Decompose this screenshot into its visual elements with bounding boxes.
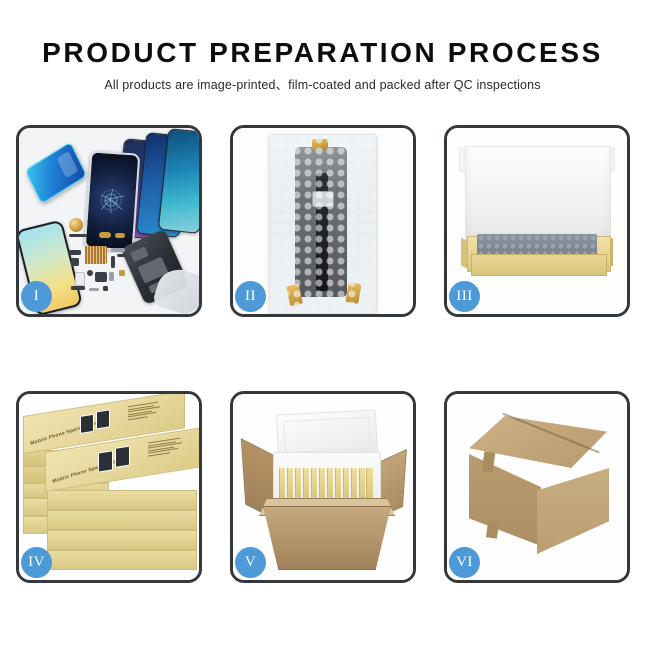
- step-badge-1: I: [21, 281, 52, 312]
- step-badge-5: V: [235, 547, 266, 578]
- box-spec-text-icon: [128, 401, 164, 422]
- box-white-lid-icon: [465, 146, 611, 244]
- bubble-overlay-icon: [270, 135, 376, 313]
- kraft-box-front-icon: [471, 254, 607, 276]
- step-panel-5: V: [230, 391, 416, 583]
- gold-component-icon: [69, 218, 83, 232]
- stacked-box-icon: [47, 530, 197, 550]
- step-panel-2: II: [230, 125, 416, 317]
- step-badge-3: III: [449, 281, 480, 312]
- box-artwork-screen-icon: [115, 446, 130, 468]
- step-badge-2: II: [235, 281, 266, 312]
- step-panel-4: Mobile Phone Spare Parts Mobile Phone Sp…: [16, 391, 202, 583]
- step-badge-6: VI: [449, 547, 480, 578]
- box-artwork-screen-icon: [98, 450, 113, 472]
- step-panel-6: VI: [444, 391, 630, 583]
- stacked-box-icon: [47, 490, 197, 510]
- spare-parts-cluster: [69, 232, 155, 308]
- step-1-image: I: [19, 128, 199, 314]
- bubble-wrap-bag-icon: [269, 134, 377, 314]
- step-2-image: II: [233, 128, 413, 314]
- page-title: PRODUCT PREPARATION PROCESS: [0, 0, 645, 68]
- product-preparation-process-page: PRODUCT PREPARATION PROCESS All products…: [0, 0, 645, 645]
- page-header: PRODUCT PREPARATION PROCESS All products…: [0, 0, 645, 92]
- box-artwork-screen-icon: [80, 414, 94, 434]
- step-4-image: Mobile Phone Spare Parts Mobile Phone Sp…: [19, 394, 199, 580]
- stacked-box-icon: [47, 510, 197, 530]
- step-badge-4: IV: [21, 547, 52, 578]
- process-steps-grid: I II: [16, 125, 630, 583]
- box-spec-text-icon: [148, 437, 186, 459]
- carton-tape-bottom-icon: [486, 521, 499, 538]
- stacked-box-icon: [47, 550, 197, 570]
- phone-notch-icon: [107, 156, 123, 161]
- step-6-image: VI: [447, 394, 627, 580]
- page-subtitle: All products are image-printed、film-coat…: [0, 68, 645, 92]
- box-artwork-screen-icon: [96, 409, 110, 429]
- step-panel-1: I: [16, 125, 202, 317]
- step-3-image: III: [447, 128, 627, 314]
- step-panel-3: III: [444, 125, 630, 317]
- cracked-screen-icon: [96, 185, 128, 217]
- carton-body-icon: [263, 506, 391, 570]
- step-5-image: V: [233, 394, 413, 580]
